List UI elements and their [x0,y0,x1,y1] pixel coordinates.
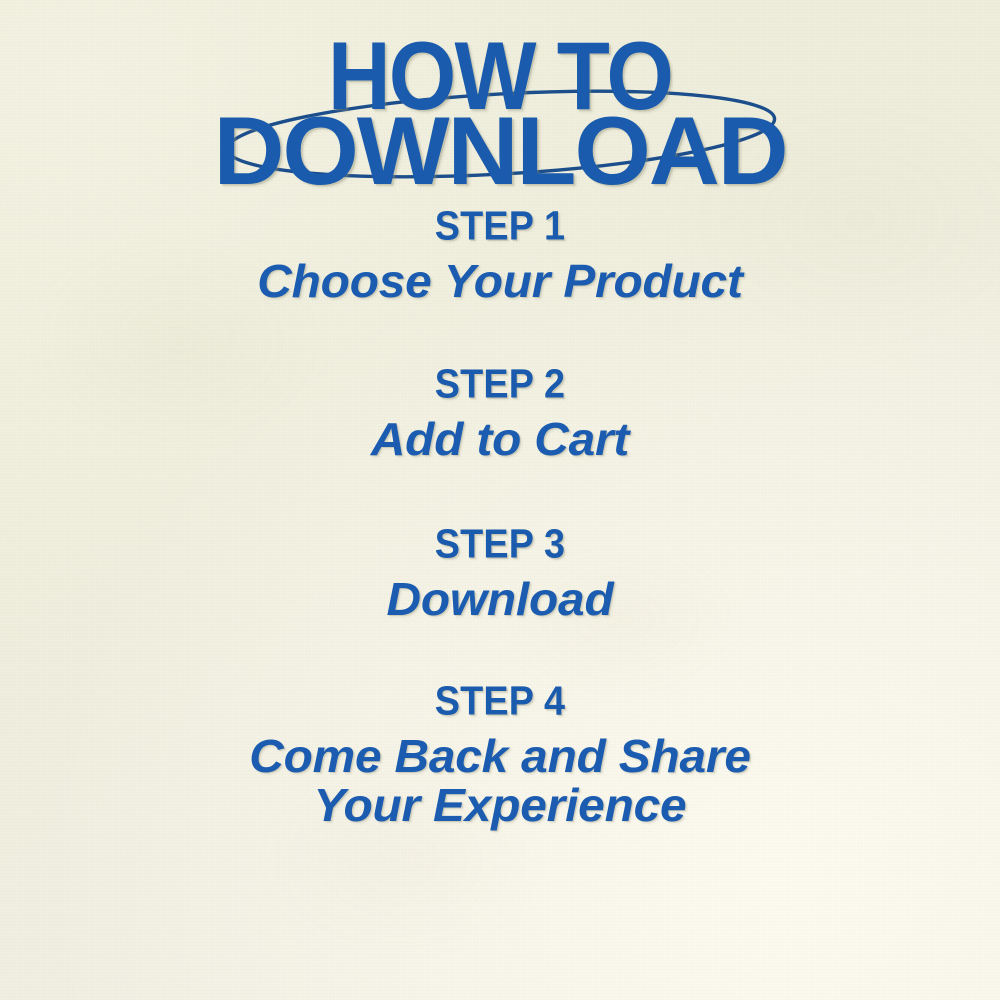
step-4-title-line-1: Come Back and Share [0,732,1000,781]
page-title: HOW TO DOWNLOAD [0,38,1000,178]
step-2-label: STEP 2 [0,364,1000,404]
step-2-title: Add to Cart [0,415,1000,464]
step-item-4: STEP 4 Come Back and Share Your Experien… [0,683,1000,830]
step-3-title-line-1: Download [0,575,1000,624]
step-1-label: STEP 1 [0,206,1000,246]
step-4-title-line-2: Your Experience [0,781,1000,830]
step-3-label: STEP 3 [0,523,1000,563]
headline-line-2: DOWNLOAD [0,113,1000,190]
step-2-title-line-1: Add to Cart [0,415,1000,464]
step-1-title: Choose Your Product [0,257,1000,306]
steps-list: STEP 1 Choose Your Product STEP 2 Add to… [0,208,1000,830]
step-4-label: STEP 4 [0,681,1000,721]
how-to-download-poster: HOW TO DOWNLOAD STEP 1 Choose Your Produ… [0,0,1000,1000]
step-1-title-line-1: Choose Your Product [0,257,1000,306]
step-3-title: Download [0,575,1000,624]
step-item-2: STEP 2 Add to Cart [0,366,1000,464]
step-4-title: Come Back and Share Your Experience [0,732,1000,830]
step-item-1: STEP 1 Choose Your Product [0,208,1000,306]
step-item-3: STEP 3 Download [0,526,1000,624]
